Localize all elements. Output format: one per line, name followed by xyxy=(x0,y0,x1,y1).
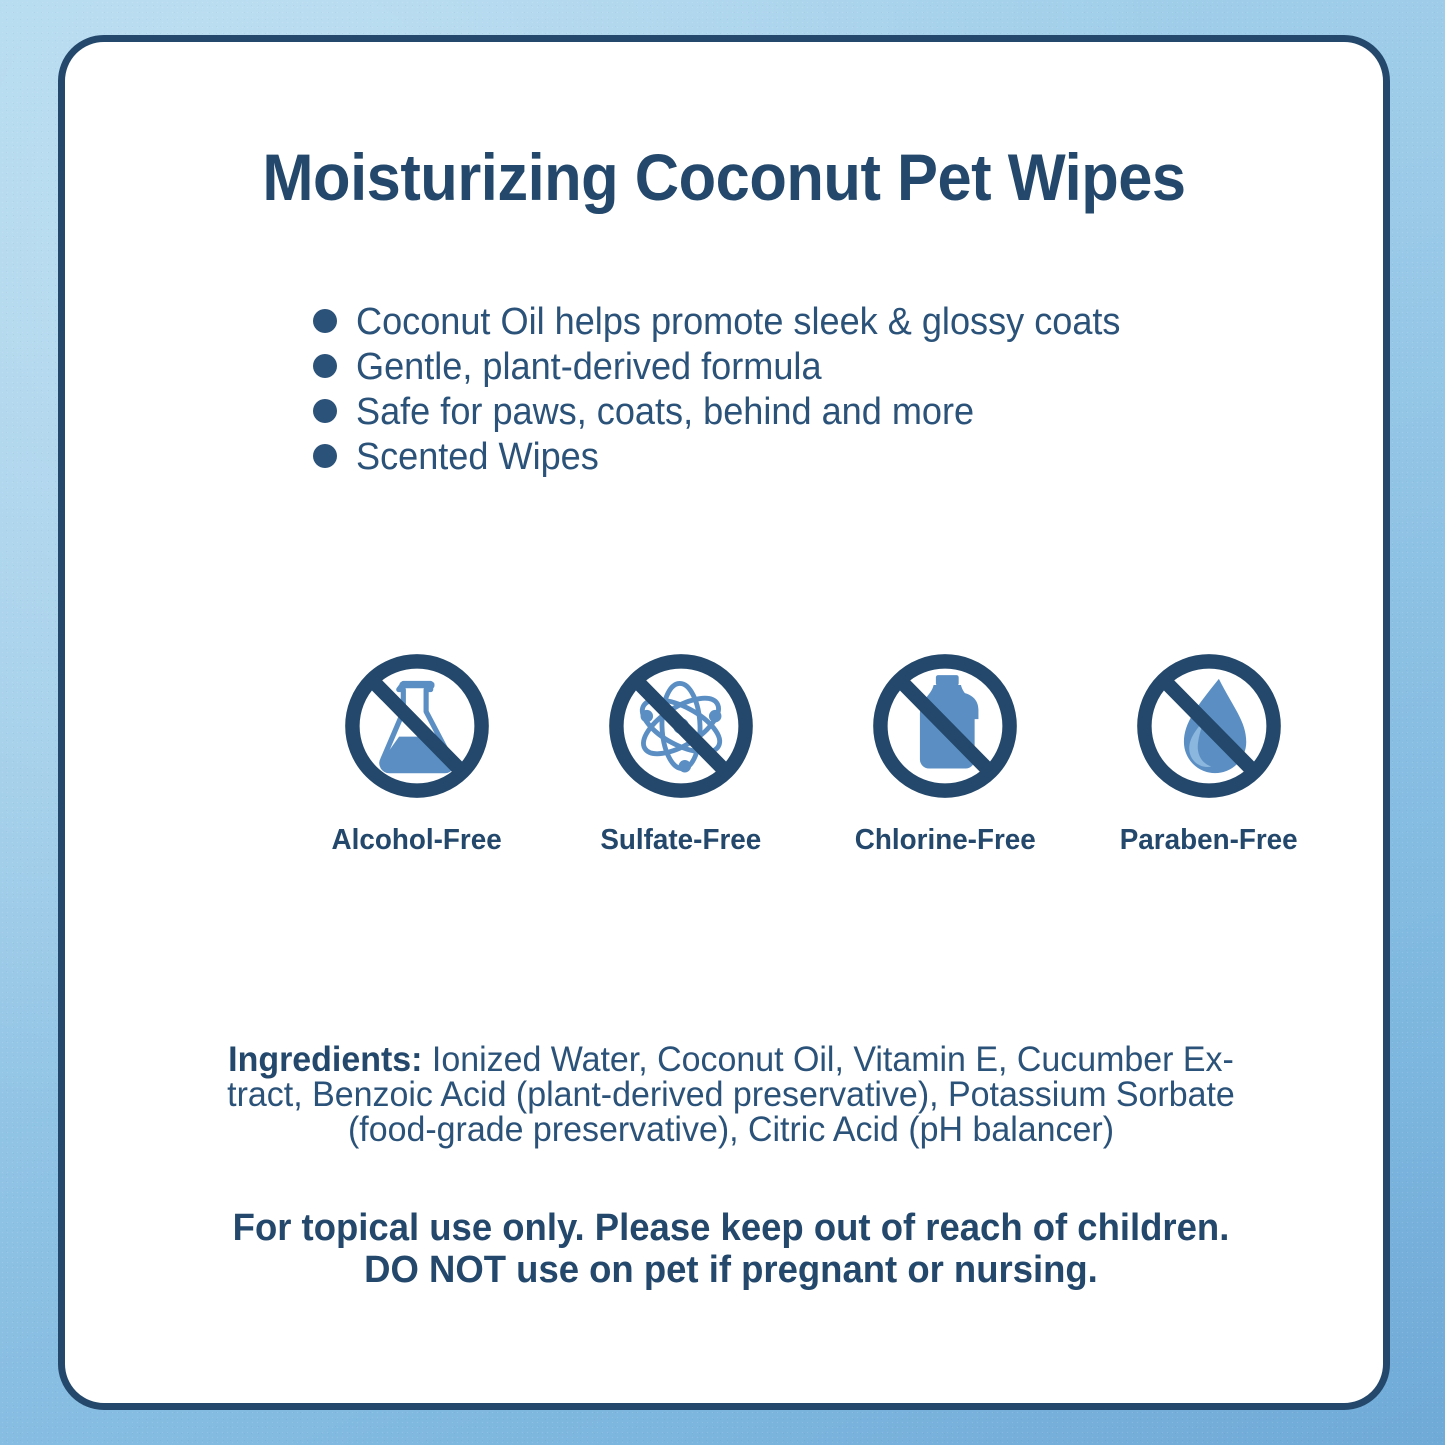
badge-label: Paraben-Free xyxy=(1120,824,1298,857)
list-item: Safe for paws, coats, behind and more xyxy=(313,390,1313,435)
list-item-label: Gentle, plant-derived formula xyxy=(356,345,822,389)
page-title: Moisturizing Coconut Pet Wipes xyxy=(111,139,1337,215)
list-item: Coconut Oil helps promote sleek & glossy… xyxy=(313,300,1313,345)
badge-alcohol-free: Alcohol-Free xyxy=(313,650,521,857)
bullet-dot-icon xyxy=(313,444,337,468)
list-item-label: Safe for paws, coats, behind and more xyxy=(356,390,974,434)
no-atom-icon xyxy=(605,650,757,802)
label-card: Moisturizing Coconut Pet Wipes Coconut O… xyxy=(58,35,1390,1410)
ingredients-line-3: (food-grade preservative), Citric Acid (… xyxy=(211,1112,1251,1147)
no-droplet-icon xyxy=(1133,650,1285,802)
badge-chlorine-free: Chlorine-Free xyxy=(841,650,1049,857)
bullet-dot-icon xyxy=(313,399,337,423)
ingredients-block: Ingredients: Ionized Water, Coconut Oil,… xyxy=(211,1042,1251,1147)
bullet-dot-icon xyxy=(313,354,337,378)
warning-line-2: DO NOT use on pet if pregnant or nursing… xyxy=(188,1249,1275,1291)
list-item: Gentle, plant-derived formula xyxy=(313,345,1313,390)
list-item: Scented Wipes xyxy=(313,435,1313,480)
ingredients-line-2: tract, Benzoic Acid (plant-derived prese… xyxy=(211,1077,1251,1112)
list-item-label: Scented Wipes xyxy=(356,435,599,479)
no-jug-icon xyxy=(869,650,1021,802)
badge-sulfate-free: Sulfate-Free xyxy=(577,650,785,857)
warning-block: For topical use only. Please keep out of… xyxy=(188,1207,1275,1291)
free-from-badges: Alcohol-Free Sulfate-Free xyxy=(313,650,1313,857)
badge-label: Alcohol-Free xyxy=(332,824,502,857)
no-flask-icon xyxy=(341,650,493,802)
list-item-label: Coconut Oil helps promote sleek & glossy… xyxy=(356,300,1120,344)
badge-label: Sulfate-Free xyxy=(601,824,762,857)
product-label-page: Moisturizing Coconut Pet Wipes Coconut O… xyxy=(0,0,1445,1445)
badge-label: Chlorine-Free xyxy=(855,824,1036,857)
bullet-dot-icon xyxy=(313,309,337,333)
ingredients-line-1: Ingredients: Ionized Water, Coconut Oil,… xyxy=(211,1042,1251,1077)
ingredients-label: Ingredients: xyxy=(228,1040,422,1079)
badge-paraben-free: Paraben-Free xyxy=(1105,650,1313,857)
ingredients-text-1: Ionized Water, Coconut Oil, Vitamin E, C… xyxy=(422,1040,1233,1079)
warning-line-1: For topical use only. Please keep out of… xyxy=(188,1207,1275,1249)
benefits-list: Coconut Oil helps promote sleek & glossy… xyxy=(313,300,1313,480)
